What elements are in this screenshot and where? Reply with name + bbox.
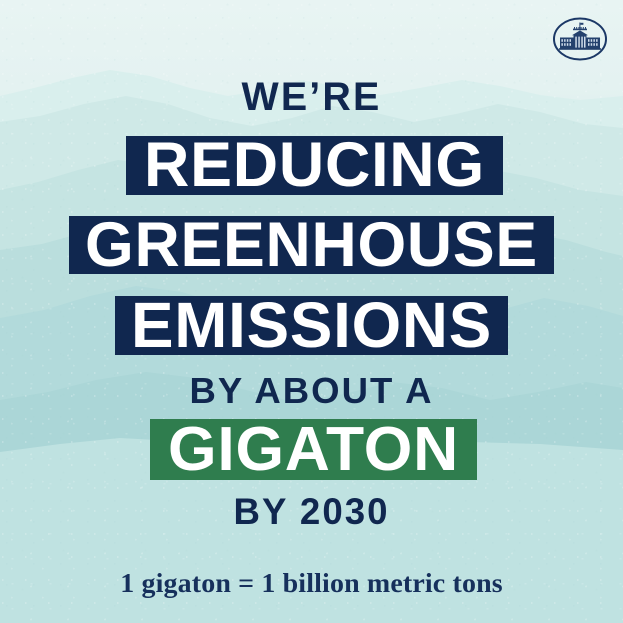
headline-line-by-2030: BY 2030 xyxy=(0,495,623,529)
headline-line-reducing: REDUCING xyxy=(126,136,503,195)
headline-line-greenhouse: GREENHOUSE xyxy=(69,216,554,274)
headline-stack: WE’RE REDUCING GREENHOUSE EMISSIONS BY A… xyxy=(0,0,623,623)
footnote-gigaton-definition: 1 gigaton = 1 billion metric tons xyxy=(0,570,623,598)
headline-line-by-about-a: BY ABOUT A xyxy=(0,374,623,408)
headline-line-gigaton: GIGATON xyxy=(150,419,477,480)
emissions-infographic-poster: WE’RE REDUCING GREENHOUSE EMISSIONS BY A… xyxy=(0,0,623,623)
headline-line-emissions: EMISSIONS xyxy=(115,296,508,355)
headline-line-were: WE’RE xyxy=(0,80,623,115)
